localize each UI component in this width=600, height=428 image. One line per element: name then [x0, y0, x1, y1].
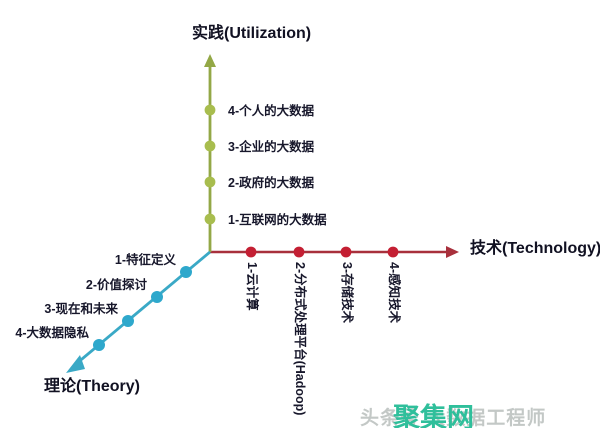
vertical-axis-tick-label-4: 4-个人的大数据: [228, 105, 314, 118]
horizontal-axis-dot-1: [246, 247, 257, 258]
diagonal-axis-tick-label-2: 2-价值探讨: [86, 279, 147, 292]
diagonal-axis-dot-3: [122, 315, 134, 327]
horizontal-axis-dot-3: [341, 247, 352, 258]
watermark-brand-text: 聚集网: [393, 396, 474, 428]
horizontal-axis-tick-label-3: 3-存储技术: [341, 262, 354, 323]
vertical-axis-dot-4: [205, 105, 216, 116]
vertical-axis-tick-label-2: 2-政府的大数据: [228, 177, 314, 190]
vertical-axis-dot-2: [205, 177, 216, 188]
diagonal-axis-dot-1: [180, 266, 192, 278]
horizontal-axis-arrowhead: [446, 246, 459, 258]
vertical-axis-tick-label-1: 1-互联网的大数据: [228, 214, 327, 227]
horizontal-axis: [210, 246, 459, 258]
diagonal-axis-dot-4: [93, 339, 105, 351]
diagonal-axis-title: 理论(Theory): [44, 379, 140, 395]
horizontal-axis-dot-2: [294, 247, 305, 258]
horizontal-axis-tick-label-2: 2-分布式处理平台(Hadoop): [294, 262, 307, 415]
horizontal-axis-title: 技术(Technology): [470, 241, 600, 257]
diagonal-axis-dot-2: [151, 291, 163, 303]
diagonal-axis-tick-label-1: 1-特征定义: [115, 254, 176, 267]
diagonal-axis-tick-label-3: 3-现在和未来: [44, 303, 118, 316]
vertical-axis: [204, 54, 216, 252]
vertical-axis-dot-3: [205, 141, 216, 152]
watermark: 头条号 大数据工程师 聚集网: [355, 396, 595, 426]
horizontal-axis-dot-4: [388, 247, 399, 258]
horizontal-axis-tick-label-4: 4-感知技术: [388, 262, 401, 323]
vertical-axis-tick-label-3: 3-企业的大数据: [228, 141, 314, 154]
vertical-axis-dot-1: [205, 214, 216, 225]
diagonal-axis-tick-label-4: 4-大数据隐私: [15, 327, 89, 340]
diagram-canvas: 实践(Utilization) 技术(Technology) 理论(Theory…: [0, 0, 600, 428]
vertical-axis-arrowhead: [204, 54, 216, 67]
horizontal-axis-tick-label-1: 1-云计算: [246, 262, 259, 311]
vertical-axis-title: 实践(Utilization): [192, 26, 311, 42]
